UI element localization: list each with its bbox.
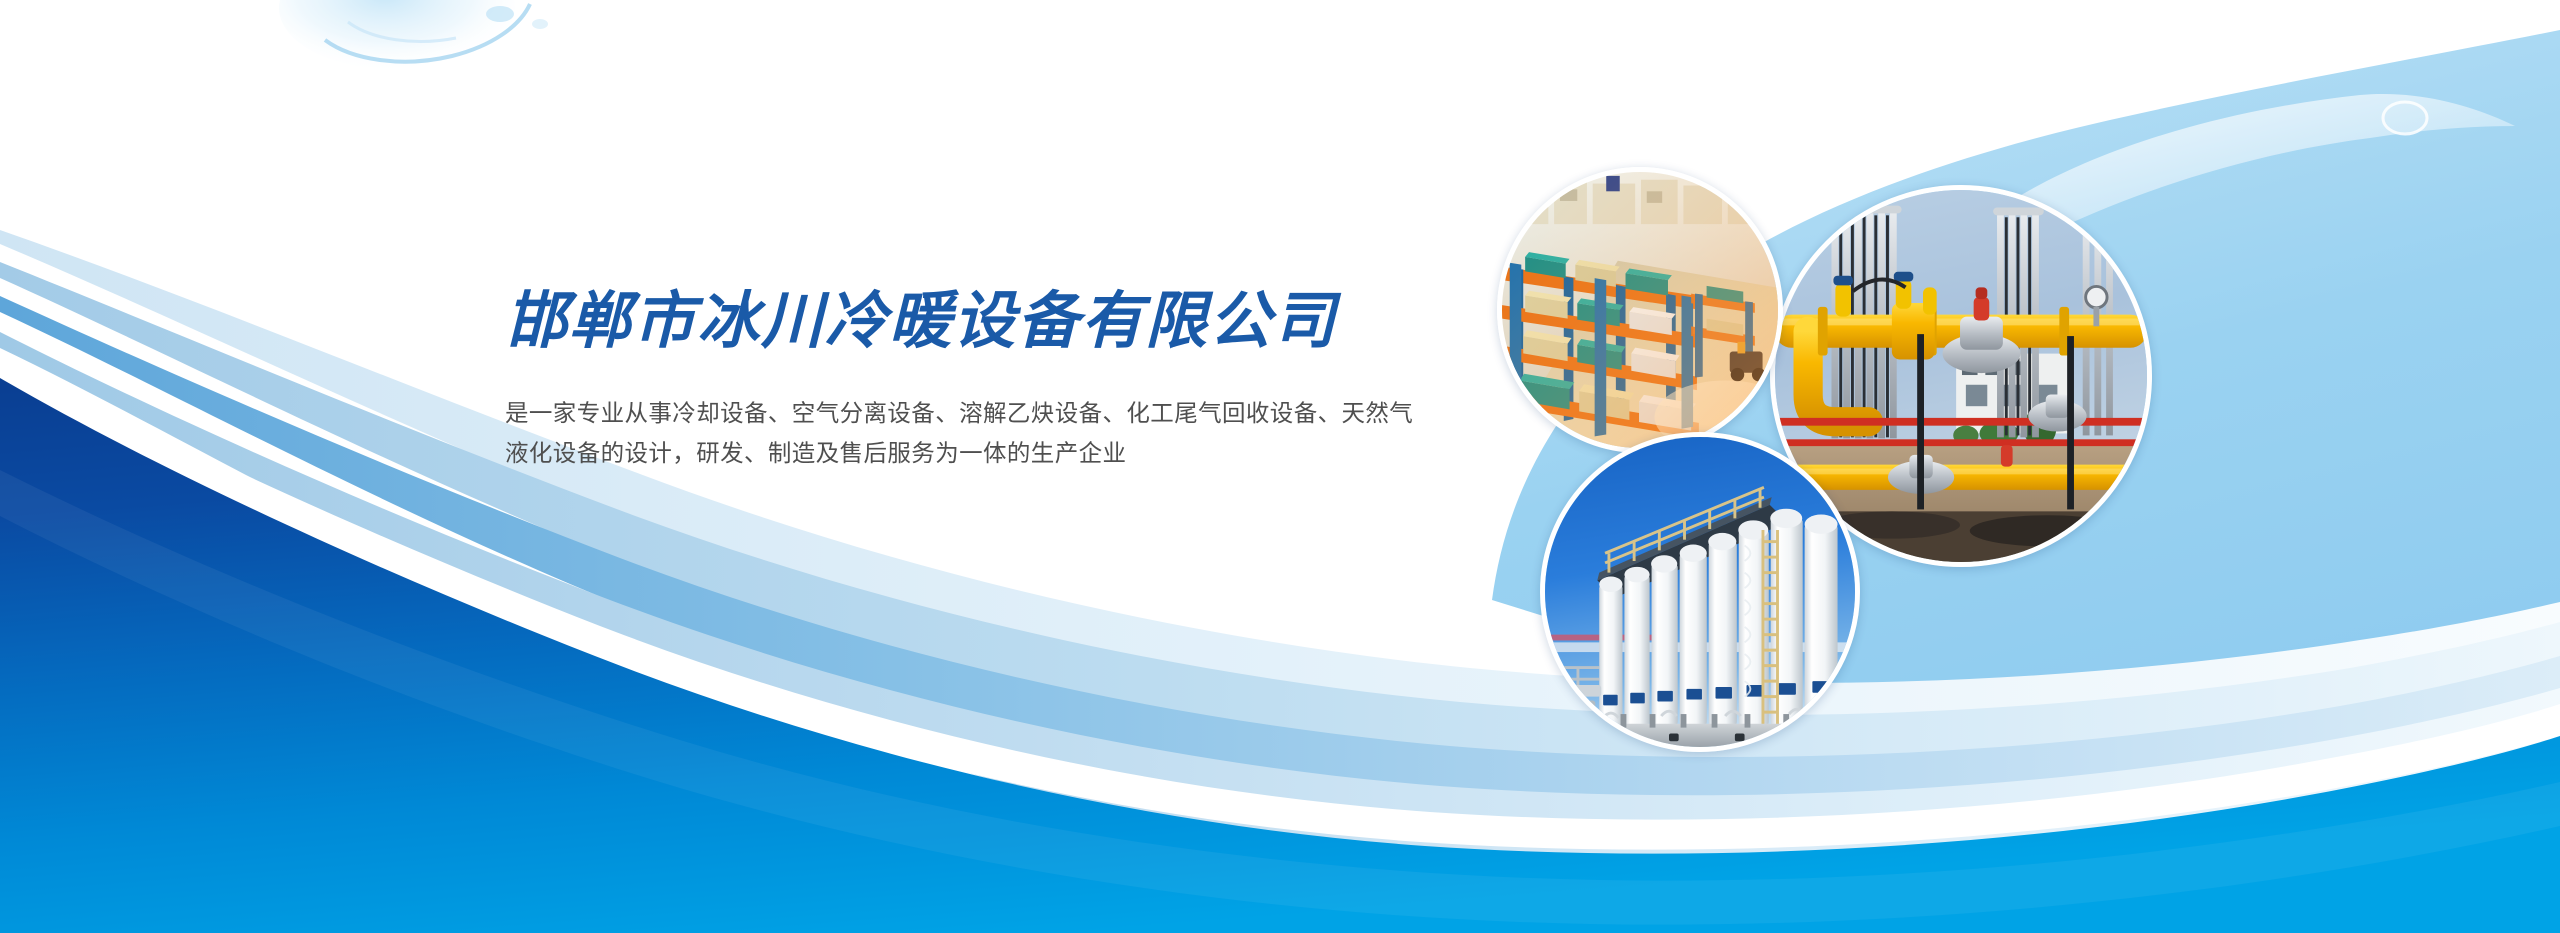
- hero-subtitle: 是一家专业从事冷却设备、空气分离设备、溶解乙炔设备、化工尾气回收设备、天然气 液…: [505, 393, 1515, 473]
- hero-text-block: 邯郸市冰川冷暖设备有限公司 是一家专业从事冷却设备、空气分离设备、溶解乙炔设备、…: [505, 290, 1515, 473]
- company-hero-banner: 邯郸市冰川冷暖设备有限公司 是一家专业从事冷却设备、空气分离设备、溶解乙炔设备、…: [0, 0, 2560, 933]
- cryogenic-tanks-illustration: [1545, 437, 1855, 747]
- hero-subtitle-line-2: 液化设备的设计，研发、制造及售后服务为一体的生产企业: [505, 433, 1515, 473]
- page-title: 邯郸市冰川冷暖设备有限公司: [505, 290, 1515, 355]
- photo-cryogenic-storage-tanks: [1540, 432, 1860, 752]
- photo-warehouse-racks: [1497, 167, 1783, 453]
- hero-subtitle-line-1: 是一家专业从事冷却设备、空气分离设备、溶解乙炔设备、化工尾气回收设备、天然气: [505, 393, 1515, 433]
- warehouse-illustration: [1502, 172, 1778, 448]
